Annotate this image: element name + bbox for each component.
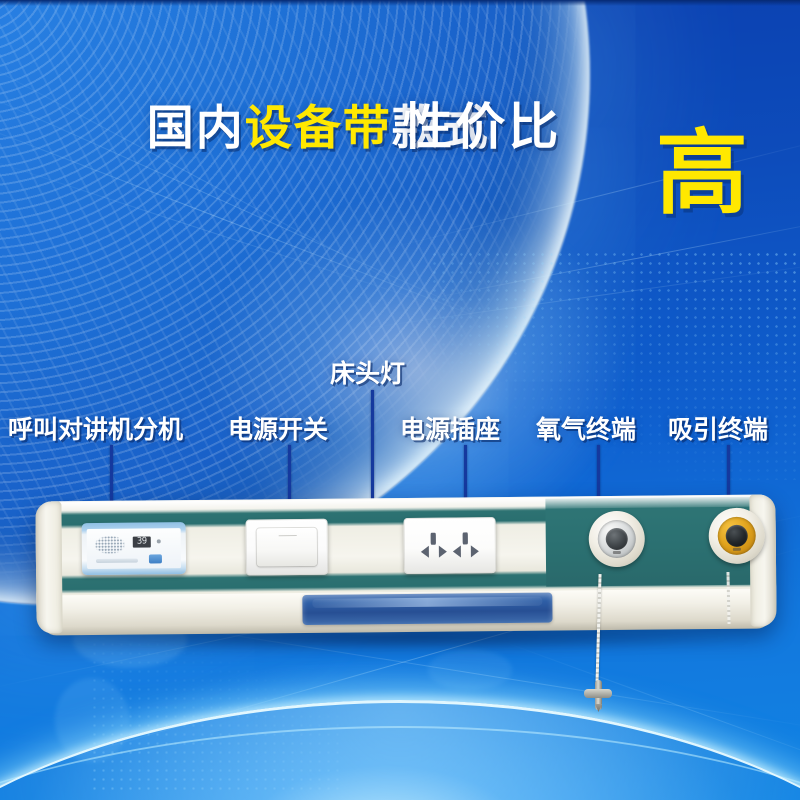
socket-pin-left-icon [421,546,429,558]
rocker-switch-button[interactable] [257,528,317,567]
suction-port-icon [726,525,748,547]
light-ray [0,70,496,323]
suction-label-mark [733,548,741,551]
nurse-call-intercom[interactable]: 39 [82,522,186,575]
callout-label-oxygen-outlet: 氧气终端 [536,418,636,443]
callout-label-suction-outlet: 吸引终端 [668,418,768,443]
oxygen-label-mark [613,551,621,554]
bed-head-unit-panel: 39 [35,494,776,633]
light-ray [0,110,500,326]
callout-label-power-socket: 电源插座 [400,418,500,443]
intercom-mic-slot [96,559,138,563]
socket-outlet-2[interactable] [450,533,482,559]
light-ray [0,40,434,304]
power-socket[interactable] [404,517,497,574]
top-edge-shade [0,0,800,6]
callout-label-intercom: 呼叫对讲机分机 [8,418,183,443]
status-led-icon [157,539,161,543]
socket-pin-left-icon [453,545,461,557]
lamp-gloss [312,597,542,608]
callout-label-bed-lamp: 床头灯 [330,362,405,387]
socket-pin-right-icon [439,546,447,558]
socket-pin-top-icon [431,534,436,545]
halftone-dots-right [430,250,800,480]
hose-connector-fitting [584,680,612,710]
speaker-grille-icon [95,536,125,554]
suction-terminal[interactable] [708,508,765,565]
socket-pin-top-icon [463,533,468,544]
bedside-lamp-diffuser[interactable] [302,593,552,625]
power-switch[interactable] [246,519,329,576]
rocker-seam [279,535,297,536]
panel-end-cap-left [35,501,62,633]
intercom-face: 39 [87,528,181,569]
socket-pin-right-icon [471,545,479,557]
oxygen-port-icon [606,528,628,550]
product-banner: 国内设备带款式 性价比 高 呼叫对讲机分机电源开关床头灯电源插座氧气终端吸引终端… [0,0,800,800]
intercom-display: 39 [133,536,151,547]
socket-outlet-1[interactable] [418,534,450,560]
light-ray [0,150,455,312]
oxygen-terminal[interactable] [589,511,646,568]
headline-accent-char: 高 [656,128,748,220]
intercom-call-button[interactable] [149,554,162,563]
callout-label-power-switch: 电源开关 [228,418,328,443]
fitting-cross [584,689,612,698]
